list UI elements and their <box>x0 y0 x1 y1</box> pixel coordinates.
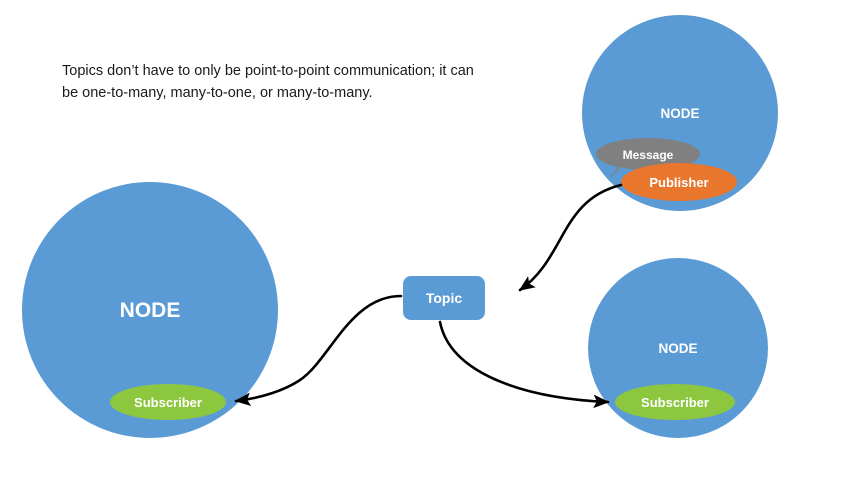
node-bottom-right-label: NODE <box>658 341 697 356</box>
subscriber-bottom-right-label: Subscriber <box>641 395 709 410</box>
node-left-label: NODE <box>120 299 181 322</box>
publisher-top-right[interactable]: Publisher <box>621 163 737 201</box>
publisher-top-right-label: Publisher <box>649 175 708 190</box>
node-top-right-label: NODE <box>660 106 699 121</box>
node-top-right[interactable]: NODE Message Publisher <box>582 15 778 211</box>
topic-box[interactable]: Topic <box>403 276 485 320</box>
subscriber-left-label: Subscriber <box>134 395 202 410</box>
node-bottom-right[interactable]: NODE Subscriber <box>588 258 768 438</box>
topic-box-label: Topic <box>426 290 463 306</box>
slide-canvas: Topics don’t have to only be point-to-po… <box>0 0 854 480</box>
connection-publisher-to-topic <box>520 185 621 290</box>
message-top-right-label: Message <box>623 148 674 162</box>
subscriber-left[interactable]: Subscriber <box>110 384 226 420</box>
diagram-svg: NODE Subscriber NODE Message Publisher <box>0 0 854 480</box>
connection-topic-to-subscriber-bottom-right <box>440 322 608 402</box>
subscriber-bottom-right[interactable]: Subscriber <box>615 384 735 420</box>
